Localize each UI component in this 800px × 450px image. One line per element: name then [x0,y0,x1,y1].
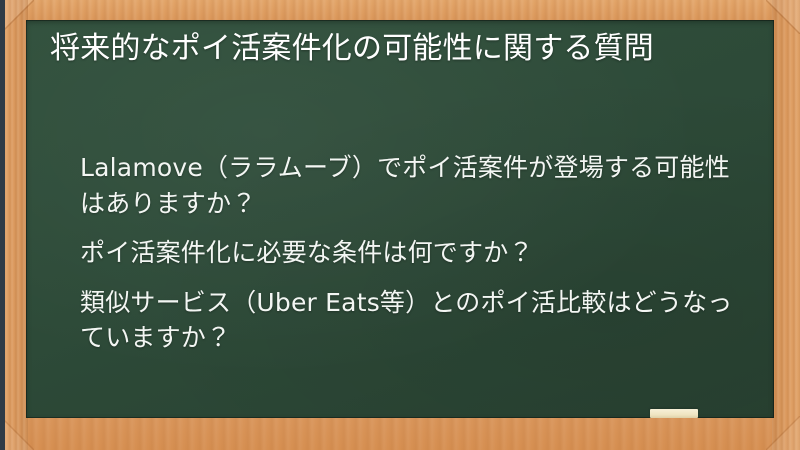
frame-right-plank [772,0,800,450]
list-item: Lalamove（ララムーブ）でポイ活案件が登場する可能性はありますか？ [56,150,734,221]
page-title: 将来的なポイ活案件化の可能性に関する質問 [50,28,742,69]
frame-top-plank [0,0,800,22]
list-item: 類似サービス（Uber Eats等）とのポイ活比較はどうなっていますか？ [56,285,734,356]
chalk-stick-icon [650,409,698,418]
blackboard-slide: 将来的なポイ活案件化の可能性に関する質問 Lalamove（ララムーブ）でポイ活… [0,0,800,450]
canvas-left-edge [0,0,5,450]
chalkboard-surface: 将来的なポイ活案件化の可能性に関する質問 Lalamove（ララムーブ）でポイ活… [26,20,774,418]
list-item: ポイ活案件化に必要な条件は何ですか？ [56,235,734,271]
frame-bottom-ledge [0,416,800,450]
question-list: Lalamove（ララムーブ）でポイ活案件が登場する可能性はありますか？ ポイ活… [56,150,734,356]
